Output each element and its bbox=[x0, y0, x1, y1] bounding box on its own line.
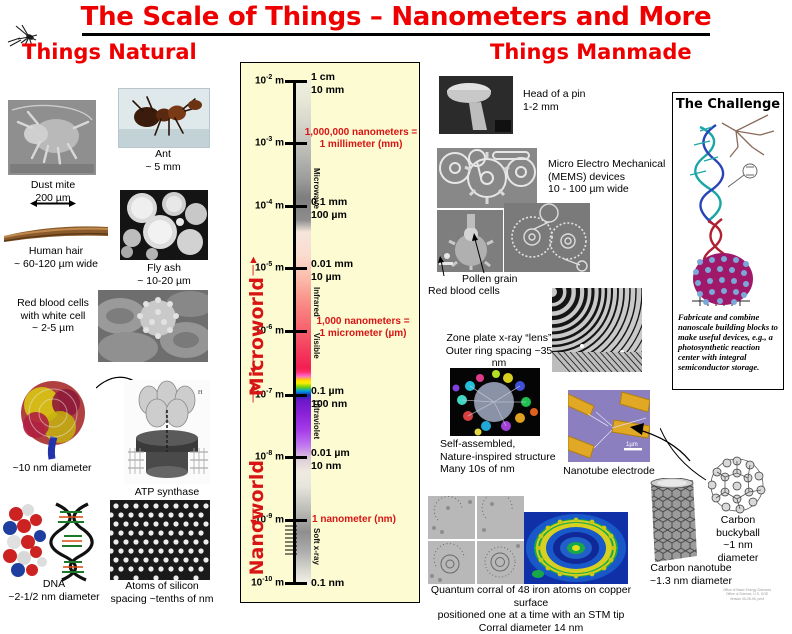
scale-tick bbox=[285, 582, 307, 585]
image-mems-gear-pair bbox=[504, 203, 590, 272]
image-red-blood-cells bbox=[98, 290, 208, 362]
scale-unit-label: 0.01 µm bbox=[311, 447, 350, 459]
image-zone-plate-grating bbox=[552, 352, 642, 372]
band-label-infrared: Infrared bbox=[312, 287, 321, 317]
image-carbon-nanotube bbox=[645, 478, 707, 564]
nanoworld-up-arrow: ▲| bbox=[248, 382, 258, 402]
image-silicon-atoms bbox=[110, 500, 210, 580]
scale-tick bbox=[285, 394, 307, 397]
caption-dna: DNA ~2-1/2 nm diameter bbox=[0, 578, 108, 603]
scale-tick bbox=[285, 519, 307, 522]
credit-text: Office of Basic Energy Sciences Office o… bbox=[706, 588, 788, 601]
image-ant bbox=[118, 88, 210, 148]
pollen-grain-leader-line bbox=[472, 233, 486, 275]
column-heading-natural: Things Natural bbox=[22, 40, 197, 64]
scale-exponent-label: 10-10 m bbox=[240, 576, 284, 588]
exp-sup: -3 bbox=[266, 136, 272, 143]
scale-unit-label: 0.1 nm bbox=[311, 577, 344, 589]
scale-unit-label: 10 mm bbox=[311, 84, 344, 96]
red-blood-cells-leader-line bbox=[438, 256, 448, 276]
image-self-assembled bbox=[450, 368, 540, 436]
callout-line2: 1 micrometer (µm) bbox=[304, 328, 422, 340]
caption-mems: Micro Electro Mechanical (MEMS) devices … bbox=[548, 158, 674, 196]
exp-sup: -2 bbox=[266, 74, 272, 81]
svg-text:H: H bbox=[198, 390, 203, 396]
image-human-hair bbox=[4, 222, 108, 244]
scale-unit-label: 10 nm bbox=[311, 460, 341, 472]
image-atp-synthase: H bbox=[124, 380, 210, 484]
exp-sup: -4 bbox=[266, 199, 272, 206]
scale-exponent-label: 10-2 m bbox=[246, 74, 284, 86]
scale-exponent-label: 10-4 m bbox=[246, 199, 284, 211]
scale-callout-millimeter: 1,000,000 nanometers = 1 millimeter (mm) bbox=[300, 127, 422, 151]
callout-line1: 1,000 nanometers = bbox=[304, 316, 422, 328]
image-quantum-corral-final bbox=[524, 512, 628, 584]
scale-tick bbox=[285, 456, 307, 459]
caption-pollen-grain: Pollen grain bbox=[462, 273, 542, 286]
exp-sup: -10 bbox=[262, 576, 272, 583]
challenge-title: The Challenge bbox=[672, 97, 784, 112]
scale-tick bbox=[285, 80, 307, 83]
scale-tick bbox=[285, 205, 307, 208]
image-quantum-corral-steps bbox=[428, 496, 524, 584]
scale-exponent-label: 10-3 m bbox=[246, 136, 284, 148]
band-label-visible: Visible bbox=[312, 333, 321, 359]
nanoworld-down-arrow: |▼ bbox=[248, 508, 258, 528]
title-underline bbox=[82, 33, 710, 36]
caption-silicon-atoms: Atoms of silicon spacing ~tenths of nm bbox=[104, 580, 220, 605]
scale-unit-label: 1 cm bbox=[311, 71, 335, 83]
scale-unit-label: 10 µm bbox=[311, 271, 341, 283]
image-atp-molecule bbox=[10, 375, 96, 461]
scale-callout-micrometer: 1,000 nanometers = 1 micrometer (µm) bbox=[304, 316, 422, 340]
callout-line1: 1,000,000 nanometers = bbox=[300, 127, 422, 139]
caption-rbc-annotation: Red blood cells bbox=[428, 285, 518, 298]
caption-pin-head: Head of a pin 1-2 mm bbox=[523, 88, 633, 113]
callout-line1: 1 nanometer (nm) bbox=[312, 514, 420, 526]
challenge-description: Fabricate and combine nanoscale building… bbox=[678, 312, 780, 372]
microworld-label: Microworld bbox=[246, 277, 268, 396]
image-dna bbox=[2, 502, 104, 582]
caption-carbon-buckyball: Carbon buckyball ~1 nm diameter bbox=[702, 514, 774, 564]
caption-nanotube-electrode: Nanotube electrode bbox=[552, 465, 666, 478]
band-label-microwave: Microwave bbox=[312, 168, 321, 209]
caption-fly-ash: Fly ash ~ 10-20 µm bbox=[120, 262, 208, 287]
microworld-down-arrow: |▼ bbox=[248, 356, 258, 376]
scale-tick bbox=[285, 267, 307, 270]
scale-unit-label: 0.1 µm bbox=[311, 385, 344, 397]
image-dust-mite bbox=[8, 100, 96, 175]
caption-atp-molecule: ~10 nm diameter bbox=[2, 462, 102, 475]
callout-line2: 1 millimeter (mm) bbox=[300, 139, 422, 151]
scale-unit-label: 100 µm bbox=[311, 209, 347, 221]
scale-callout-nanometer: 1 nanometer (nm) bbox=[312, 514, 420, 526]
scale-unit-label: 0.01 mm bbox=[311, 258, 353, 270]
image-pin-head bbox=[439, 76, 513, 134]
dust-mite-scale-arrow bbox=[30, 195, 76, 204]
caption-self-assembled: Self-assembled, Nature-inspired structur… bbox=[440, 438, 560, 476]
caption-ant: Ant ~ 5 mm bbox=[118, 148, 208, 173]
caption-quantum-corral: Quantum corral of 48 iron atoms on coppe… bbox=[418, 584, 644, 634]
image-nanocrystal bbox=[690, 250, 756, 308]
band-label-ultraviolet: Ultraviolet bbox=[312, 400, 321, 439]
caption-atp-synthase: ATP synthase bbox=[122, 486, 212, 499]
exp-sup: -8 bbox=[266, 450, 272, 457]
caption-human-hair: Human hair ~ 60-120 µm wide bbox=[0, 245, 112, 270]
caption-carbon-nanotube: Carbon nanotube ~1.3 nm diameter bbox=[636, 562, 746, 587]
column-heading-manmade: Things Manmade bbox=[490, 40, 692, 64]
leader-buckyball-to-nanotube bbox=[660, 428, 716, 484]
exp-sup: -5 bbox=[266, 261, 272, 268]
caption-zone-plate: Zone plate x-ray “lens” Outer ring spaci… bbox=[440, 332, 558, 370]
image-fly-ash bbox=[120, 190, 208, 260]
image-mems-gears bbox=[437, 148, 537, 208]
band-label-soft-xray: Soft x-ray bbox=[312, 528, 321, 565]
page-title: The Scale of Things – Nanometers and Mor… bbox=[0, 2, 792, 32]
microworld-up-arrow: ▲| bbox=[248, 255, 258, 275]
image-carbon-buckyball bbox=[708, 456, 766, 514]
caption-red-blood-cells: Red blood cells with white cell ~ 2-5 µm bbox=[8, 297, 98, 335]
